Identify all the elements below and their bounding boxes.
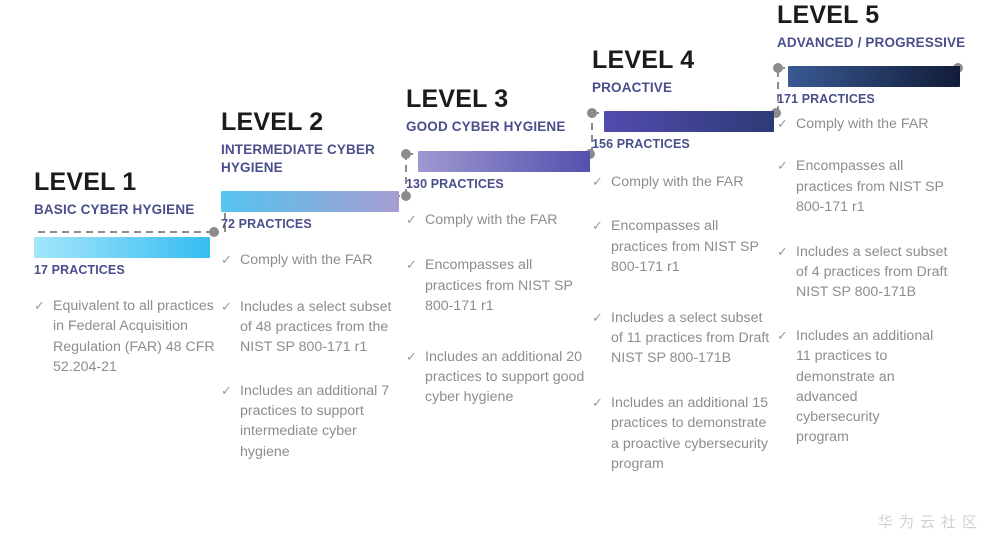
check-icon: ✓: [592, 172, 603, 192]
level-1-bullet-list: ✓ Equivalent to all practices in Federal…: [34, 296, 216, 377]
check-icon: ✓: [34, 296, 45, 316]
level-3-subtitle: GOOD CYBER HYGIENE: [406, 118, 596, 136]
check-icon: ✓: [592, 216, 603, 236]
level-2-subtitle: INTERMEDIATE CYBER HYGIENE: [221, 141, 399, 177]
level-3-practices-count: 130 PRACTICES: [406, 177, 596, 191]
level-2-title: LEVEL 2: [221, 110, 411, 135]
level-1-bar: [34, 237, 210, 258]
level-4-practices-count: 156 PRACTICES: [592, 137, 787, 151]
level-4-title: LEVEL 4: [592, 48, 787, 73]
list-item: ✓ Comply with the FAR: [406, 210, 586, 230]
level-column-4: LEVEL 4 PROACTIVE 156 PRACTICES ✓ Comply…: [592, 48, 787, 492]
level-4-bar: [604, 111, 774, 132]
level-1-subtitle: BASIC CYBER HYGIENE: [34, 201, 224, 219]
list-item: ✓ Includes an additional 7 practices to …: [221, 381, 401, 462]
list-item: ✓ Encompasses all practices from NIST SP…: [592, 216, 777, 276]
level-5-practices-count: 171 PRACTICES: [777, 92, 977, 106]
bullet-text: Comply with the FAR: [611, 174, 743, 190]
level-1-practices-count: 17 PRACTICES: [34, 263, 224, 277]
check-icon: ✓: [777, 242, 788, 262]
list-item: ✓ Comply with the FAR: [592, 172, 777, 192]
bullet-text: Includes a select subset of 48 practices…: [240, 299, 391, 355]
bullet-text: Comply with the FAR: [240, 252, 372, 268]
level-column-3: LEVEL 3 GOOD CYBER HYGIENE 130 PRACTICES…: [406, 87, 596, 425]
list-item: ✓ Encompasses all practices from NIST SP…: [777, 156, 952, 216]
bullet-text: Encompasses all practices from NIST SP 8…: [611, 218, 759, 274]
list-item: ✓ Equivalent to all practices in Federal…: [34, 296, 216, 377]
bullet-text: Encompasses all practices from NIST SP 8…: [425, 257, 573, 313]
level-2-practices-count: 72 PRACTICES: [221, 217, 411, 231]
list-item: ✓ Includes a select subset of 4 practice…: [777, 242, 952, 302]
bullet-text: Encompasses all practices from NIST SP 8…: [796, 158, 944, 214]
bullet-text: Includes a select subset of 11 practices…: [611, 310, 769, 366]
bullet-text: Includes an additional 20 practices to s…: [425, 349, 584, 405]
list-item: ✓ Comply with the FAR: [221, 250, 401, 270]
bullet-text: Comply with the FAR: [425, 212, 557, 228]
level-4-subtitle: PROACTIVE: [592, 79, 787, 97]
check-icon: ✓: [777, 156, 788, 176]
check-icon: ✓: [221, 381, 232, 401]
list-item: ✓ Includes an additional 11 practices to…: [777, 326, 936, 447]
level-column-5: LEVEL 5 ADVANCED / PROGRESSIVE 171 PRACT…: [777, 3, 977, 465]
level-5-subtitle: ADVANCED / PROGRESSIVE: [777, 34, 977, 52]
level-1-title: LEVEL 1: [34, 170, 224, 195]
level-4-bullet-list: ✓ Comply with the FAR ✓ Encompasses all …: [592, 172, 777, 474]
level-column-2: LEVEL 2 INTERMEDIATE CYBER HYGIENE 72 PR…: [221, 110, 411, 480]
check-icon: ✓: [406, 347, 417, 367]
list-item: ✓ Includes an additional 20 practices to…: [406, 347, 586, 407]
check-icon: ✓: [406, 210, 417, 230]
bullet-text: Includes an additional 15 practices to d…: [611, 395, 768, 471]
check-icon: ✓: [406, 255, 417, 275]
level-column-1: LEVEL 1 BASIC CYBER HYGIENE 17 PRACTICES…: [34, 170, 224, 395]
level-3-title: LEVEL 3: [406, 87, 596, 112]
check-icon: ✓: [221, 250, 232, 270]
level-3-bullet-list: ✓ Comply with the FAR ✓ Encompasses all …: [406, 210, 586, 407]
check-icon: ✓: [777, 326, 788, 346]
cmmc-maturity-levels-diagram: LEVEL 1 BASIC CYBER HYGIENE 17 PRACTICES…: [0, 0, 997, 540]
check-icon: ✓: [592, 393, 603, 413]
bullet-text: Includes an additional 7 practices to su…: [240, 383, 389, 459]
bullet-text: Comply with the FAR: [796, 116, 928, 132]
bullet-text: Equivalent to all practices in Federal A…: [53, 298, 215, 374]
bullet-text: Includes an additional 11 practices to d…: [796, 328, 933, 445]
list-item: ✓ Encompasses all practices from NIST SP…: [406, 255, 586, 315]
level-5-bar: [788, 66, 960, 87]
check-icon: ✓: [592, 308, 603, 328]
check-icon: ✓: [777, 114, 788, 134]
bullet-text: Includes a select subset of 4 practices …: [796, 244, 947, 300]
list-item: ✓ Includes a select subset of 48 practic…: [221, 297, 401, 357]
list-item: ✓ Includes an additional 15 practices to…: [592, 393, 777, 474]
level-5-title: LEVEL 5: [777, 3, 977, 28]
check-icon: ✓: [221, 297, 232, 317]
level-5-bullet-list: ✓ Comply with the FAR ✓ Encompasses all …: [777, 114, 952, 447]
watermark: 华为云社区: [878, 511, 983, 532]
list-item: ✓ Comply with the FAR: [777, 114, 952, 134]
list-item: ✓ Includes a select subset of 11 practic…: [592, 308, 777, 368]
level-2-bar: [221, 191, 399, 212]
level-3-bar: [418, 151, 590, 172]
level-2-bullet-list: ✓ Comply with the FAR ✓ Includes a selec…: [221, 250, 401, 461]
